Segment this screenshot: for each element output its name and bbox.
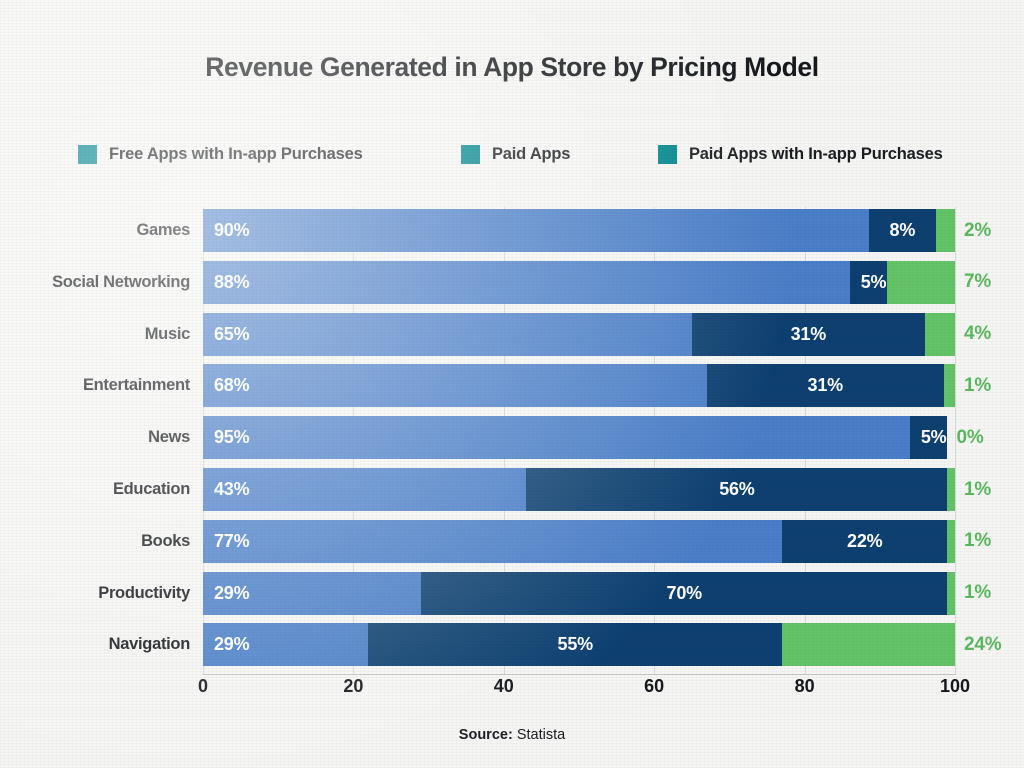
stacked-bar: 68%31% [203, 364, 955, 407]
segment-value-label: 8% [890, 220, 916, 241]
legend-label: Free Apps with In-app Purchases [109, 145, 363, 164]
category-label: News [148, 416, 190, 459]
outside-value-label: 2% [964, 209, 991, 252]
bar-segment[interactable] [947, 572, 955, 615]
bar-segment[interactable] [887, 261, 955, 304]
bar-segment[interactable]: 56% [526, 468, 947, 511]
outside-value-label: 1% [964, 468, 991, 511]
segment-value-label: 29% [214, 583, 249, 604]
x-axis-ticks: 020406080100 [203, 676, 955, 704]
stacked-bar: 29%55% [203, 623, 955, 666]
legend-label: Paid Apps with In-app Purchases [689, 145, 943, 164]
bar-segment[interactable] [782, 623, 955, 666]
segment-value-label: 43% [214, 479, 249, 500]
bar-row[interactable]: Games2%90%8% [203, 209, 955, 252]
legend-item-1[interactable]: Paid Apps [461, 140, 570, 168]
bar-segment[interactable]: 65% [203, 313, 692, 356]
plot-area: Games2%90%8%Social Networking7%88%5%Musi… [203, 207, 955, 674]
outside-value-label: 1% [964, 520, 991, 563]
outside-value-label: 1% [964, 364, 991, 407]
legend-swatch-icon [658, 145, 677, 164]
stacked-bar: 77%22% [203, 520, 955, 563]
chart-legend: Free Apps with In-app PurchasesPaid Apps… [78, 140, 1008, 168]
segment-value-label: 22% [847, 531, 882, 552]
outside-value-label: 7% [964, 261, 991, 304]
segment-value-label: 65% [214, 324, 249, 345]
bar-row[interactable]: Navigation24%29%55% [203, 623, 955, 666]
segment-value-label: 29% [214, 634, 249, 655]
legend-item-2[interactable]: Paid Apps with In-app Purchases [658, 140, 943, 168]
segment-value-label: 77% [214, 531, 249, 552]
bar-segment[interactable]: 29% [203, 572, 421, 615]
source-note: Source: Statista [0, 727, 1024, 743]
bar-segment[interactable] [925, 313, 955, 356]
segment-value-label: 31% [791, 324, 826, 345]
segment-value-label: 68% [214, 375, 249, 396]
bar-segment[interactable]: 8% [869, 209, 937, 252]
segment-value-label: 5% [861, 272, 887, 293]
bar-segment[interactable] [947, 468, 955, 511]
bar-segment[interactable]: 22% [782, 520, 947, 563]
outside-value-label: 1% [964, 572, 991, 615]
category-label: Games [136, 209, 190, 252]
x-tick-label: 0 [198, 676, 208, 697]
x-tick-label: 80 [795, 676, 815, 697]
category-label: Entertainment [83, 364, 190, 407]
bar-segment[interactable]: 31% [707, 364, 944, 407]
bar-row[interactable]: Social Networking7%88%5% [203, 261, 955, 304]
bar-segment[interactable]: 95% [203, 416, 910, 459]
bar-segment[interactable]: 70% [421, 572, 947, 615]
stacked-bar: 95%5% [203, 416, 947, 459]
bar-segment[interactable]: 43% [203, 468, 526, 511]
bar-segment[interactable]: 77% [203, 520, 782, 563]
bar-segment[interactable]: 31% [692, 313, 925, 356]
legend-item-0[interactable]: Free Apps with In-app Purchases [78, 140, 363, 168]
stacked-bar: 65%31% [203, 313, 955, 356]
segment-value-label: 90% [214, 220, 249, 241]
category-label: Navigation [109, 623, 190, 666]
bar-row[interactable]: News0%95%5% [203, 416, 955, 459]
bar-row[interactable]: Education1%43%56% [203, 468, 955, 511]
x-tick-label: 40 [494, 676, 514, 697]
bar-segment[interactable] [944, 364, 955, 407]
category-label: Music [145, 313, 190, 356]
bar-segment[interactable]: 5% [850, 261, 888, 304]
bar-segment[interactable]: 55% [368, 623, 782, 666]
bar-row[interactable]: Books1%77%22% [203, 520, 955, 563]
x-tick-label: 20 [343, 676, 363, 697]
bar-row[interactable]: Productivity1%29%70% [203, 572, 955, 615]
chart-title: Revenue Generated in App Store by Pricin… [0, 52, 1024, 83]
stacked-bar: 90%8% [203, 209, 955, 252]
legend-swatch-icon [461, 145, 480, 164]
stacked-bar: 43%56% [203, 468, 955, 511]
segment-value-label: 95% [214, 427, 249, 448]
segment-value-label: 31% [808, 375, 843, 396]
legend-label: Paid Apps [492, 145, 570, 164]
legend-swatch-icon [78, 145, 97, 164]
category-label: Productivity [98, 572, 190, 615]
source-value: Statista [517, 727, 565, 743]
bar-segment[interactable] [947, 520, 955, 563]
bar-segment[interactable]: 5% [910, 416, 948, 459]
segment-value-label: 55% [558, 634, 593, 655]
outside-value-label: 0% [956, 416, 983, 459]
x-tick-label: 60 [644, 676, 664, 697]
segment-value-label: 56% [719, 479, 754, 500]
bar-segment[interactable]: 29% [203, 623, 368, 666]
bar-segment[interactable]: 68% [203, 364, 707, 407]
outside-value-label: 4% [964, 313, 991, 356]
segment-value-label: 70% [667, 583, 702, 604]
bar-row[interactable]: Music4%65%31% [203, 313, 955, 356]
source-prefix: Source: [459, 727, 513, 743]
bar-segment[interactable]: 90% [203, 209, 869, 252]
segment-value-label: 5% [921, 427, 947, 448]
chart-container: Revenue Generated in App Store by Pricin… [0, 0, 1024, 768]
axis-baseline [203, 674, 956, 675]
category-label: Books [141, 520, 190, 563]
bar-segment[interactable]: 88% [203, 261, 850, 304]
segment-value-label: 88% [214, 272, 249, 293]
bar-row[interactable]: Entertainment1%68%31% [203, 364, 955, 407]
outside-value-label: 24% [964, 623, 1001, 666]
category-label: Social Networking [52, 261, 190, 304]
category-label: Education [113, 468, 190, 511]
x-tick-label: 100 [940, 676, 970, 697]
stacked-bar: 29%70% [203, 572, 955, 615]
bar-segment[interactable] [936, 209, 955, 252]
stacked-bar: 88%5% [203, 261, 955, 304]
